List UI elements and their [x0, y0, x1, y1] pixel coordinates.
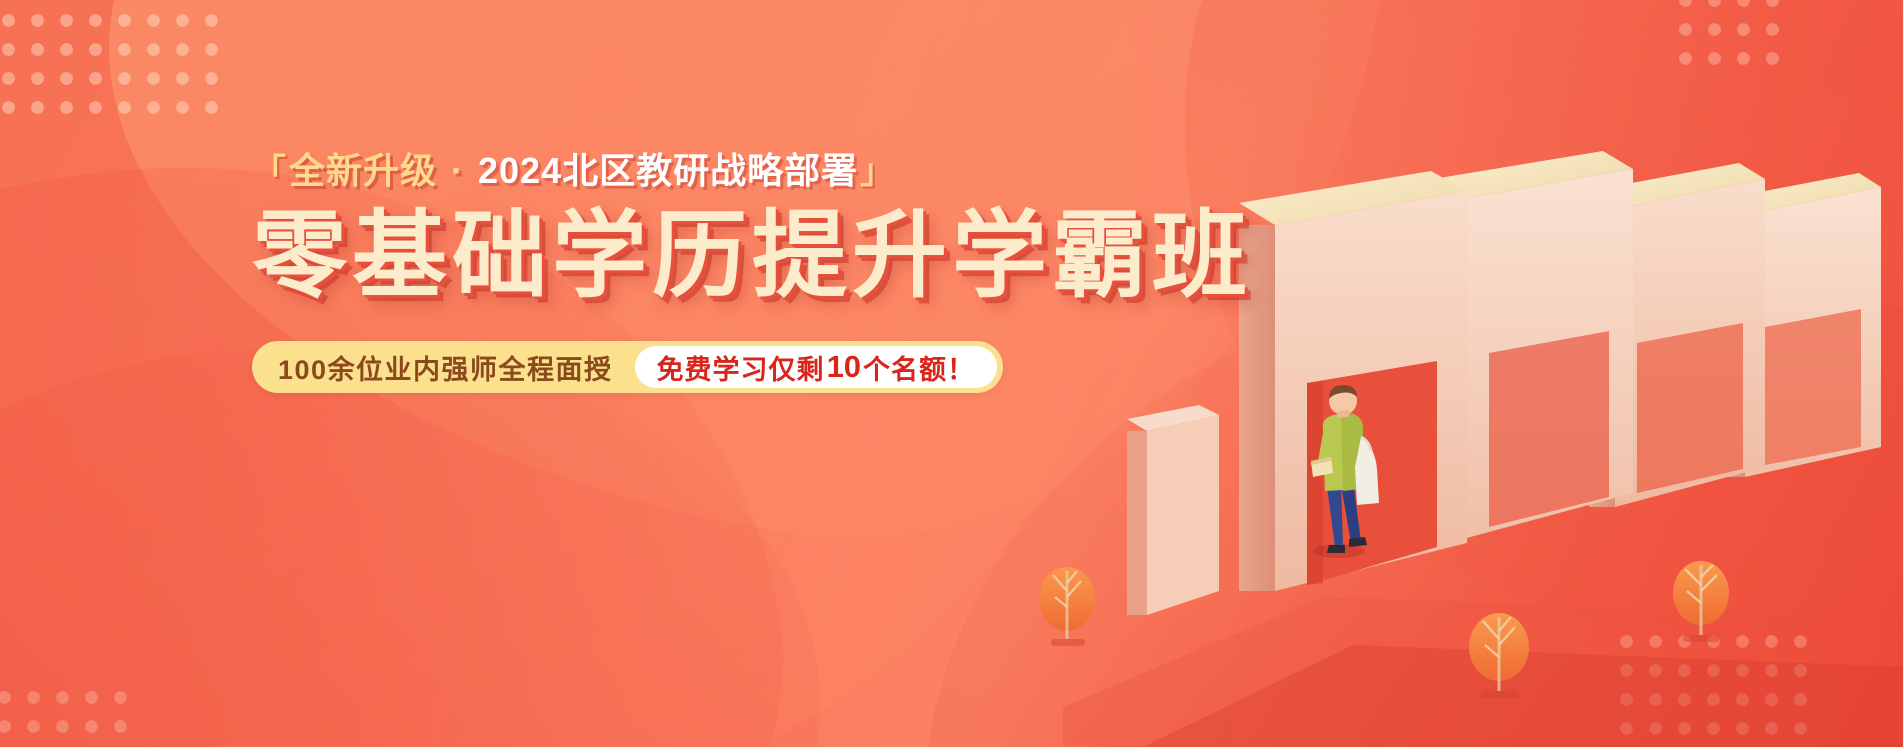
eyebrow-separator: ·: [439, 148, 476, 195]
pill-suffix-text: 个名额！: [863, 348, 975, 387]
promo-pill[interactable]: 100余位业内强师全程面授 免费学习仅剩 10 个名额！: [252, 341, 1003, 393]
banner-eyebrow: 「 全新升级 · 2024北区教研战略部署 」: [252, 148, 1112, 195]
bracket-open: 「: [252, 150, 287, 194]
dot-pattern-bottom-left: [0, 683, 130, 747]
dot-pattern-top-left: [0, 6, 224, 126]
bracket-close: 」: [860, 150, 895, 194]
banner-headline: 零基础学历提升学霸班: [252, 205, 1112, 308]
pill-prefix-text: 免费学习仅剩: [657, 348, 825, 387]
pill-left-label: 100余位业内强师全程面授: [278, 348, 635, 387]
eyebrow-white-text: 2024北区教研战略部署: [476, 148, 860, 195]
book-block-front: [1127, 405, 1219, 615]
pill-seat-count: 10: [825, 349, 863, 385]
promo-banner: 「 全新升级 · 2024北区教研战略部署 」 零基础学历提升学霸班 100余位…: [0, 0, 1903, 747]
eyebrow-gold-text: 全新升级: [287, 148, 439, 195]
pill-highlight-badge: 免费学习仅剩 10 个名额！: [635, 346, 997, 388]
tree-left: [1039, 567, 1095, 646]
banner-text-block: 「 全新升级 · 2024北区教研战略部署 」 零基础学历提升学霸班 100余位…: [252, 148, 1112, 393]
dot-pattern-top-right: [1671, 0, 1791, 70]
